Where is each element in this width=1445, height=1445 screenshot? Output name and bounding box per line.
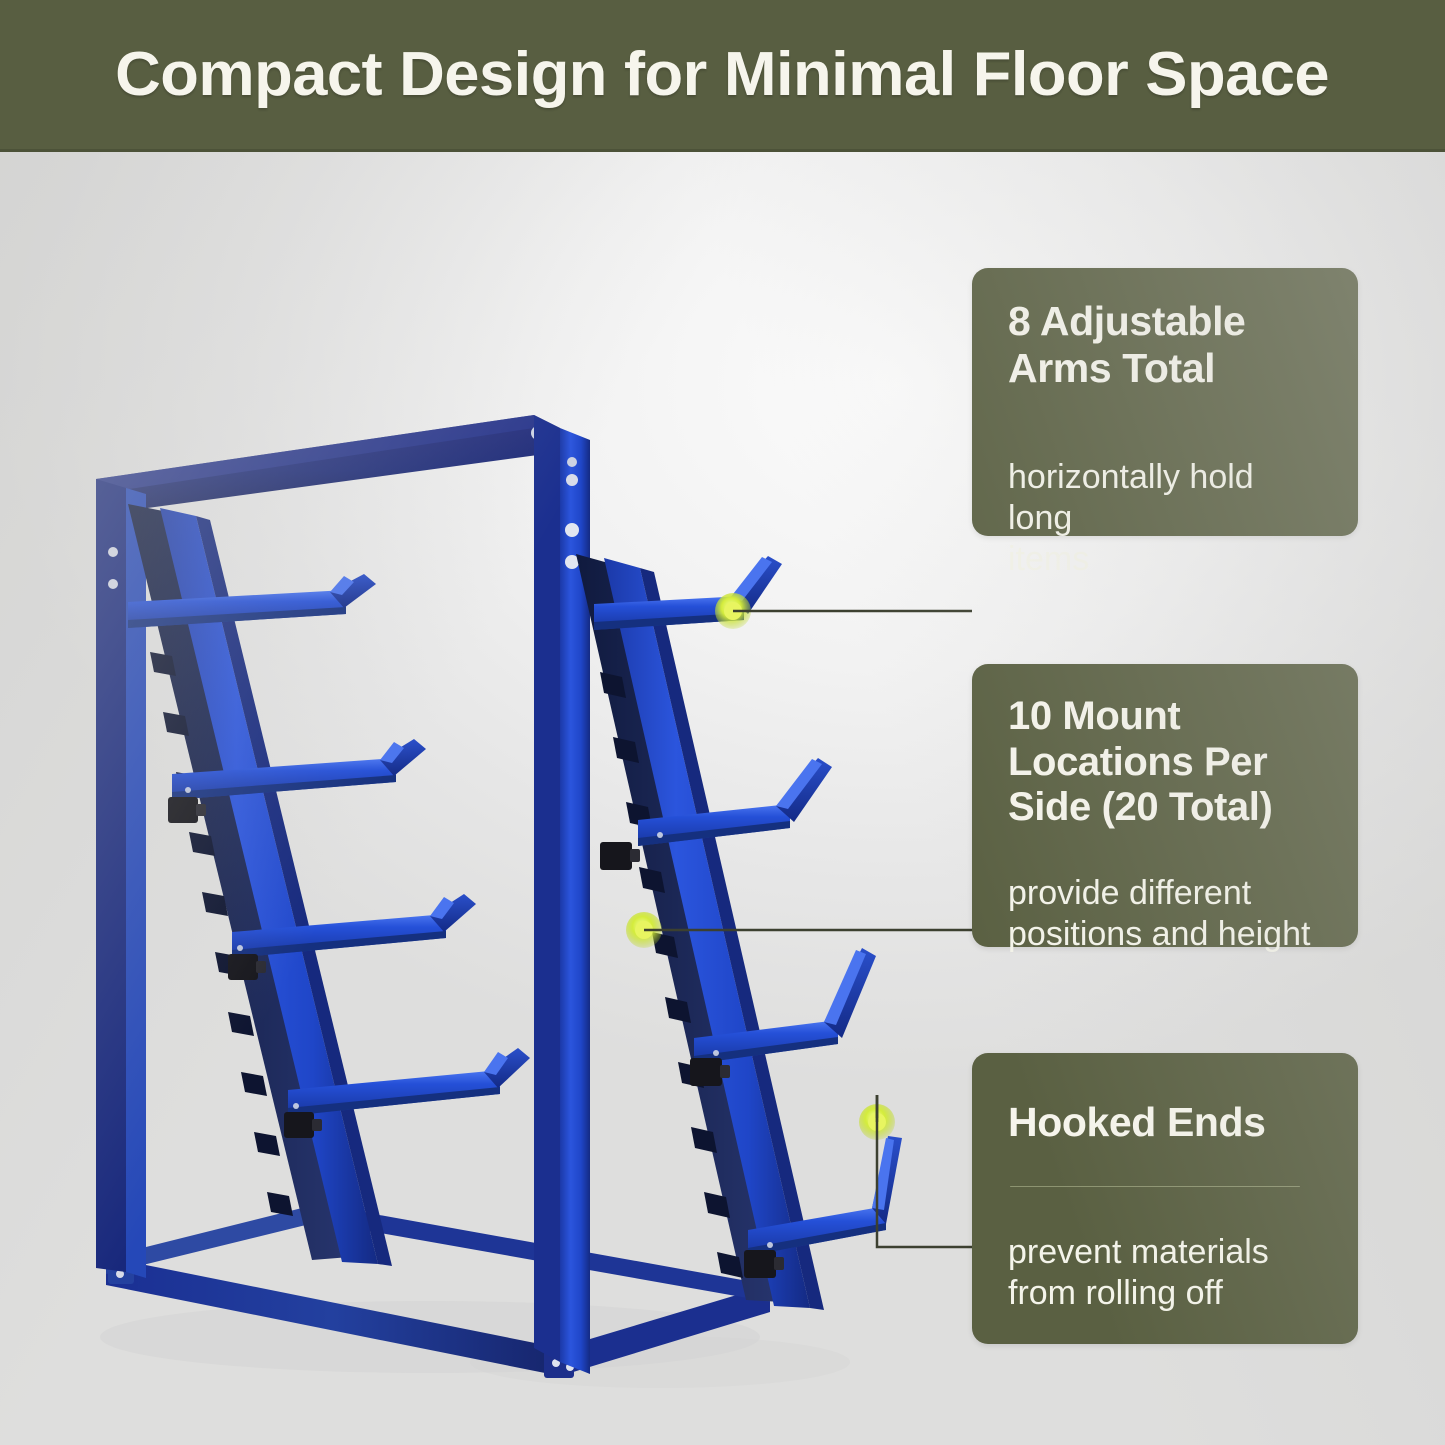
rack-top-beam <box>96 415 560 515</box>
callout-title: 10 Mount Locations Per Side (20 Total) <box>1008 694 1324 831</box>
callout-body: prevent materials from rolling off <box>1008 1232 1324 1314</box>
callout-card-hooked-ends: Hooked Ends prevent materials from rolli… <box>972 1053 1358 1344</box>
callout-divider <box>1010 1186 1300 1187</box>
marker-dot-hooked-ends <box>859 1104 895 1140</box>
callout-card-mount-locations: 10 Mount Locations Per Side (20 Total) p… <box>972 664 1358 947</box>
callout-card-adjustable-arms: 8 Adjustable Arms Total horizontally hol… <box>972 268 1358 536</box>
callout-body: provide different positions and height <box>1008 873 1324 955</box>
callout-title: Hooked Ends <box>1008 1099 1324 1146</box>
infographic-page: Compact Design for Minimal Floor Space <box>0 0 1445 1445</box>
rack-right-angled-leg <box>576 554 824 1310</box>
page-title: Compact Design for Minimal Floor Space <box>116 39 1330 110</box>
marker-dot-adjustable-arms <box>715 593 751 629</box>
marker-dot-mount-locations <box>626 912 662 948</box>
callout-title: 8 Adjustable Arms Total <box>1008 298 1324 391</box>
rack-left-upright <box>96 479 146 1278</box>
header-banner: Compact Design for Minimal Floor Space <box>0 0 1445 152</box>
callout-body: horizontally hold long items <box>1008 457 1324 579</box>
product-stage: 8 Adjustable Arms Total horizontally hol… <box>0 152 1445 1445</box>
